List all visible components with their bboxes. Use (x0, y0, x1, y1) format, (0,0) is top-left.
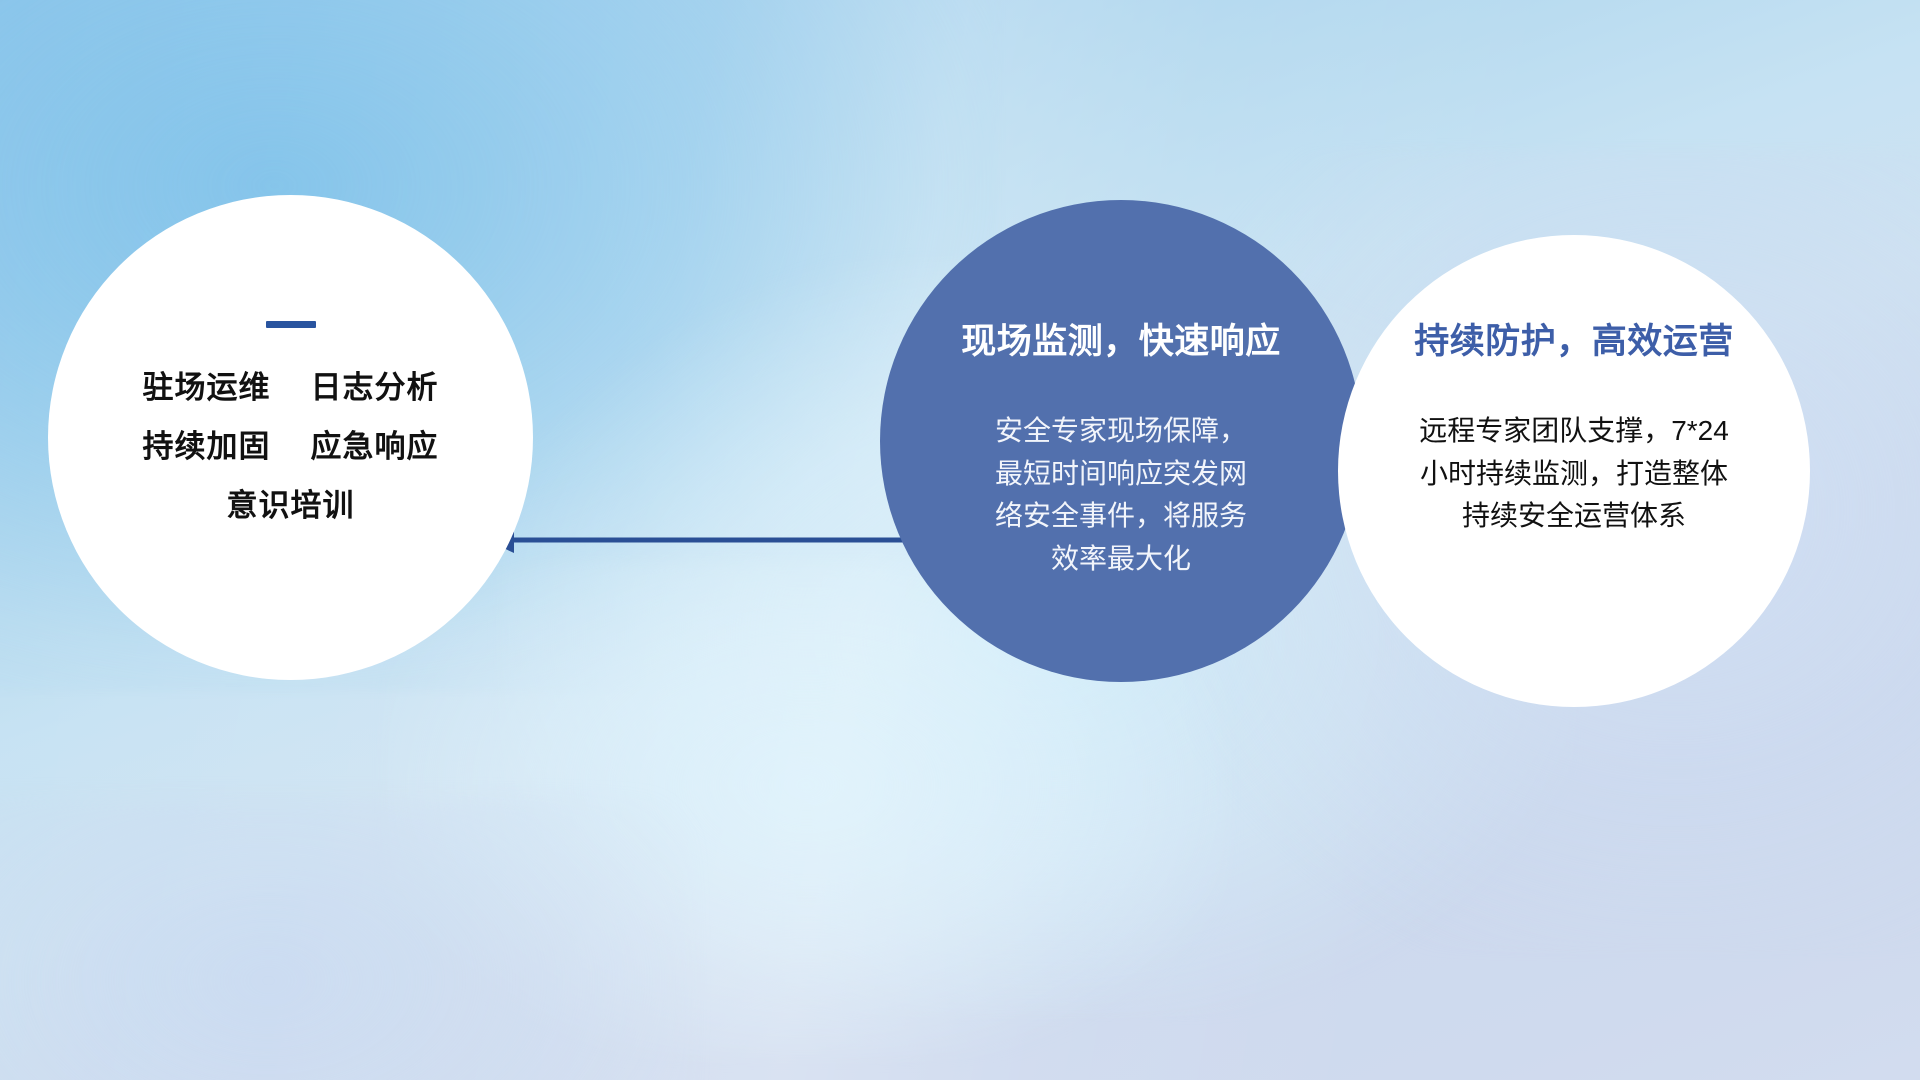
body-line: 小时持续监测，打造整体 (1384, 453, 1764, 496)
horizontal-rule-icon (266, 321, 316, 328)
keyword-item: 日志分析 (311, 372, 439, 403)
onsite-response-circle[interactable]: 现场监测，快速响应 安全专家现场保障， 最短时间响应突发网 络安全事件，将服务 … (880, 200, 1362, 682)
keyword-item: 持续加固 (143, 431, 271, 462)
body-line: 效率最大化 (956, 538, 1286, 581)
body-line: 络安全事件，将服务 (956, 495, 1286, 538)
continuous-protection-title: 持续防护，高效运营 (1414, 313, 1734, 364)
keyword-list: 驻场运维 日志分析 持续加固 应急响应 意识培训 (48, 372, 533, 521)
onsite-response-title: 现场监测，快速响应 (961, 313, 1281, 364)
arrow-left-icon (480, 500, 920, 580)
keyword-row: 驻场运维 日志分析 (48, 372, 533, 403)
body-line: 远程专家团队支撑，7*24 (1384, 410, 1764, 453)
body-line: 安全专家现场保障， (956, 410, 1286, 453)
continuous-protection-circle[interactable]: 持续防护，高效运营 远程专家团队支撑，7*24 小时持续监测，打造整体 持续安全… (1338, 235, 1810, 707)
capability-keywords-circle[interactable]: 驻场运维 日志分析 持续加固 应急响应 意识培训 (48, 195, 533, 680)
keyword-item: 意识培训 (227, 490, 355, 521)
body-line: 持续安全运营体系 (1384, 495, 1764, 538)
onsite-response-body: 安全专家现场保障， 最短时间响应突发网 络安全事件，将服务 效率最大化 (956, 410, 1286, 580)
diagram-canvas: 驻场运维 日志分析 持续加固 应急响应 意识培训 现场监测，快速响应 安全专家现… (0, 0, 1920, 1080)
keyword-item: 应急响应 (311, 431, 439, 462)
keyword-row: 持续加固 应急响应 (48, 431, 533, 462)
keyword-row: 意识培训 (48, 490, 533, 521)
keyword-item: 驻场运维 (143, 372, 271, 403)
continuous-protection-body: 远程专家团队支撑，7*24 小时持续监测，打造整体 持续安全运营体系 (1384, 410, 1764, 538)
body-line: 最短时间响应突发网 (956, 453, 1286, 496)
